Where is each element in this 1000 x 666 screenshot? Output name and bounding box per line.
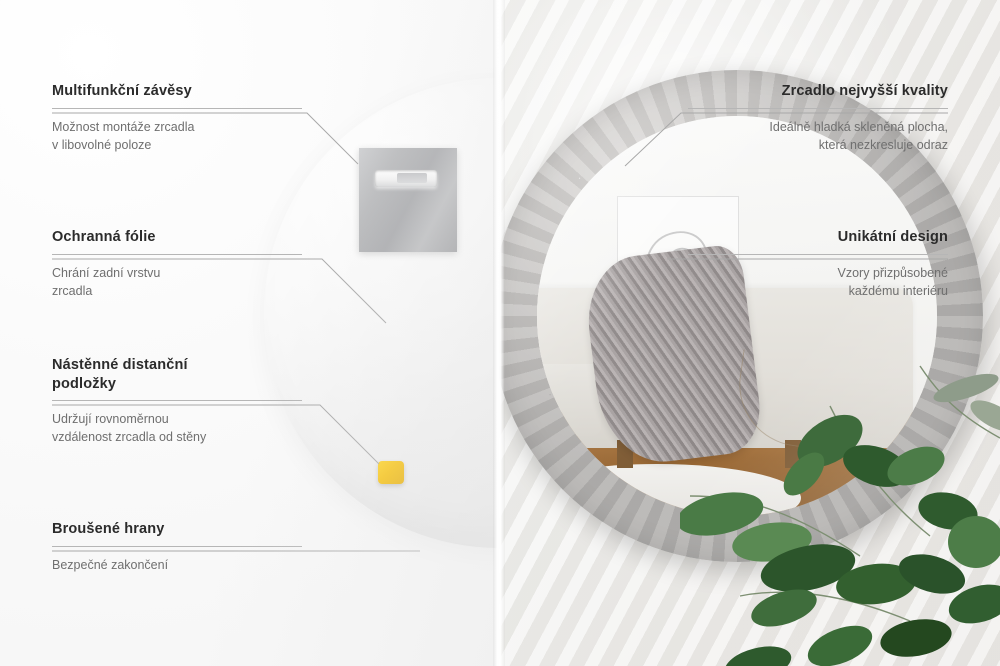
callout-description: Vzory přizpůsobené každému interiéru: [688, 264, 948, 300]
callout-description: Udržují rovnoměrnou vzdálenost zrcadla o…: [52, 410, 302, 446]
hanger-slot-icon: [375, 170, 437, 187]
callout-wall-spacers: Nástěnné distanční podložky Udržují rovn…: [52, 356, 302, 446]
leader-line-foil: [52, 259, 386, 323]
callout-title: Broušené hrany: [52, 520, 302, 539]
callout-rule: [52, 254, 302, 255]
leader-line-spacers: [52, 405, 379, 464]
callout-polished-edges: Broušené hrany Bezpečné zakončení: [52, 520, 302, 574]
panel-divider: [493, 0, 505, 666]
callout-title: Ochranná fólie: [52, 228, 302, 247]
callout-title: Unikátní design: [688, 228, 948, 247]
callout-rule: [688, 254, 948, 255]
callout-description: Ideálně hladká skleněná plocha, která ne…: [688, 118, 948, 154]
callout-unique-design: Unikátní design Vzory přizpůsobené každé…: [688, 228, 948, 300]
callout-title: Multifunkční závěsy: [52, 82, 302, 101]
callout-rule: [688, 108, 948, 109]
callout-rule: [52, 546, 302, 547]
leader-lines-left: [0, 0, 499, 666]
foliage-leaves: [680, 346, 1000, 666]
callout-rule: [52, 400, 302, 401]
callout-title: Nástěnné distanční podložky: [52, 356, 302, 393]
callout-protective-foil: Ochranná fólie Chrání zadní vrstvu zrcad…: [52, 228, 302, 300]
hanger-plate: [359, 148, 457, 252]
leader-line-hangers: [52, 113, 358, 164]
callout-rule: [52, 108, 302, 109]
callout-title: Zrcadlo nejvyšší kvality: [688, 82, 948, 101]
callout-top-quality-mirror: Zrcadlo nejvyšší kvality Ideálně hladká …: [688, 82, 948, 154]
right-panel-room-scene: Zrcadlo nejvyšší kvality Ideálně hladká …: [499, 0, 1000, 666]
yellow-spacer-pad: [378, 461, 404, 484]
callout-description: Bezpečné zakončení: [52, 556, 302, 574]
infographic-canvas: Multifunkční závěsy Možnost montáže zrca…: [0, 0, 1000, 666]
callout-description: Chrání zadní vrstvu zrcadla: [52, 264, 302, 300]
callout-multifunctional-hangers: Multifunkční závěsy Možnost montáže zrca…: [52, 82, 302, 154]
left-panel-mirror-back: Multifunkční závěsy Možnost montáže zrca…: [0, 0, 499, 666]
callout-description: Možnost montáže zrcadla v libovolné polo…: [52, 118, 302, 154]
